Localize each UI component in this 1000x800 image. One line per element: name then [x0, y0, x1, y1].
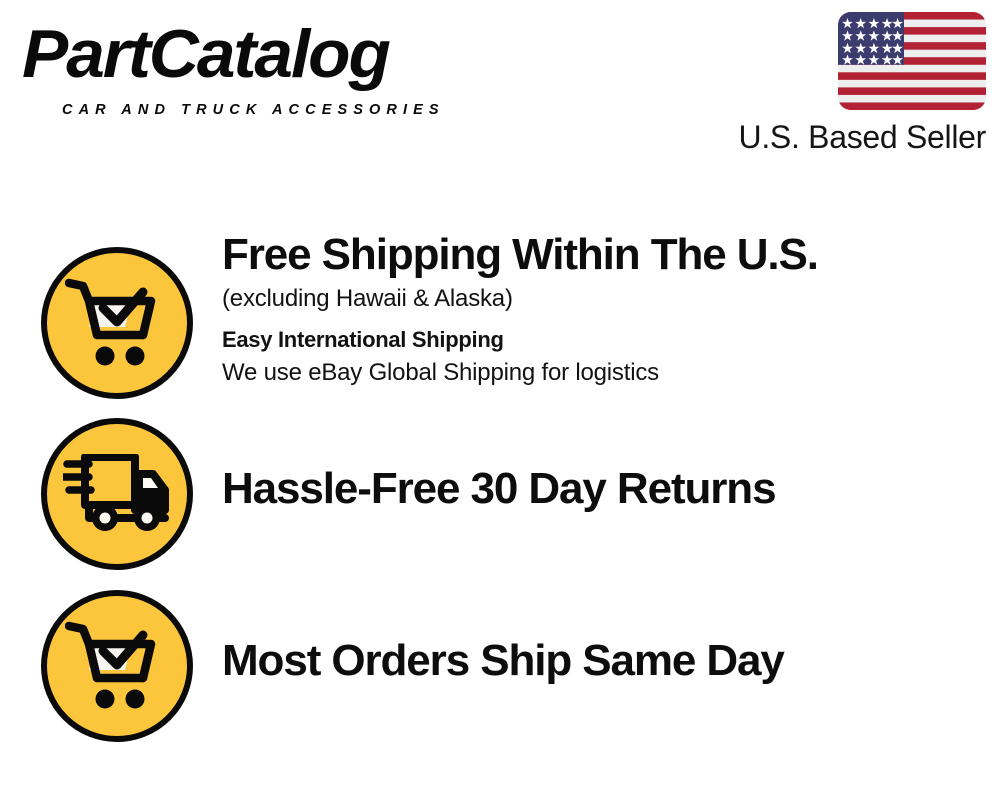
- logo-wordmark: PartCatalog: [22, 12, 389, 96]
- feature-subline: We use eBay Global Shipping for logistic…: [222, 356, 990, 390]
- feature-row: Most Orders Ship Same Day: [0, 572, 1000, 744]
- feature-text-block: Most Orders Ship Same Day: [222, 634, 990, 688]
- feature-headline: Hassle-Free 30 Day Returns: [222, 462, 990, 516]
- feature-headline: Most Orders Ship Same Day: [222, 634, 990, 688]
- partcatalog-logo[interactable]: PartCatalog CAR AND TRUCK ACCESSORIES: [22, 18, 492, 113]
- feature-row: Free Shipping Within The U.S. (excluding…: [0, 228, 1000, 406]
- us-flag-icon: [838, 12, 986, 110]
- feature-row: Hassle-Free 30 Day Returns: [0, 400, 1000, 572]
- header: PartCatalog CAR AND TRUCK ACCESSORIES: [0, 0, 1000, 170]
- feature-subline: (excluding Hawaii & Alaska): [222, 282, 990, 316]
- shopping-cart-check-icon: [41, 247, 193, 399]
- logo-tagline: CAR AND TRUCK ACCESSORIES: [62, 102, 445, 118]
- spacer: [222, 316, 990, 324]
- feature-subline-bold: Easy International Shipping: [222, 324, 990, 356]
- feature-headline: Free Shipping Within The U.S.: [222, 228, 990, 282]
- us-based-seller-label: U.S. Based Seller: [724, 118, 986, 156]
- delivery-truck-icon: [41, 418, 193, 570]
- feature-text-block: Hassle-Free 30 Day Returns: [222, 462, 990, 516]
- shopping-cart-check-icon: [41, 590, 193, 742]
- feature-text-block: Free Shipping Within The U.S. (excluding…: [222, 228, 990, 390]
